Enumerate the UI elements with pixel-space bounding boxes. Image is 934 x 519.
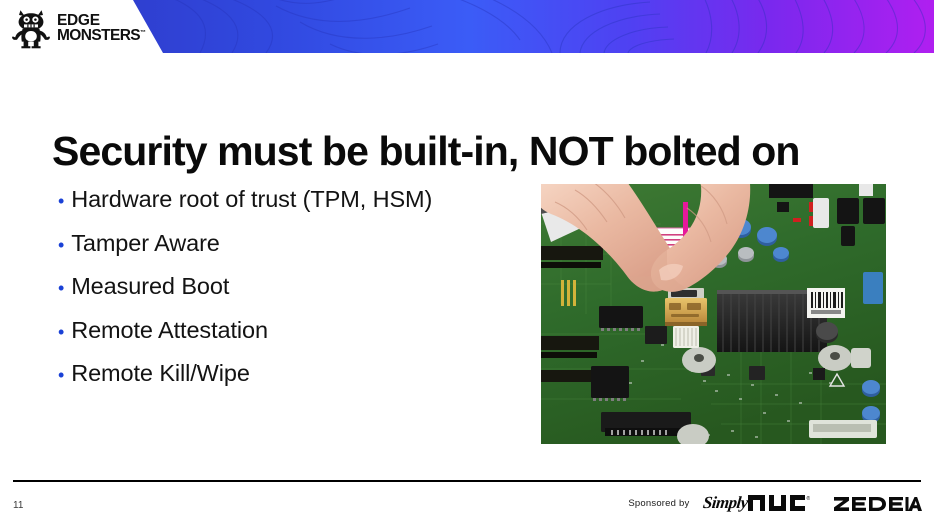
nuc-trademark: ®	[807, 495, 811, 502]
bullet-marker-icon: •	[58, 323, 64, 341]
footer-divider	[13, 480, 921, 482]
logo-line-edge: EDGE	[57, 13, 145, 29]
sponsored-by-label: Sponsored by	[628, 498, 689, 509]
bullet-marker-icon: •	[58, 192, 64, 210]
logo-line-monsters: MONSTERS™	[57, 28, 145, 44]
logo-monsters-text: MONSTERS	[57, 27, 140, 44]
list-item-label: Tamper Aware	[71, 230, 220, 257]
list-item-label: Hardware root of trust (TPM, HSM)	[71, 186, 432, 213]
zededa-logo	[834, 493, 922, 513]
list-item: • Remote Kill/Wipe	[58, 360, 528, 404]
edge-monsters-monster-icon	[8, 6, 54, 50]
nuc-wordmark-icon: ®	[748, 493, 810, 513]
list-item: • Hardware root of trust (TPM, HSM)	[58, 186, 528, 230]
bullet-marker-icon: •	[58, 236, 64, 254]
slide-root: EDGE MONSTERS™ Security must be built-in…	[0, 0, 934, 519]
list-item-label: Remote Attestation	[71, 317, 268, 344]
page-number: 11	[13, 500, 23, 511]
bullet-marker-icon: •	[58, 366, 64, 384]
page-title: Security must be built-in, NOT bolted on	[52, 128, 902, 174]
logo-trademark: ™	[140, 30, 145, 36]
list-item: • Tamper Aware	[58, 230, 528, 274]
bullet-list: • Hardware root of trust (TPM, HSM) • Ta…	[58, 186, 528, 404]
list-item-label: Measured Boot	[71, 273, 229, 300]
motherboard-illustration	[541, 184, 886, 444]
tpm-module-installation-photo	[541, 184, 886, 444]
simply-nuc-script-text: Simply	[702, 493, 749, 513]
brand-logo: EDGE MONSTERS™	[8, 6, 145, 50]
bullet-marker-icon: •	[58, 279, 64, 297]
list-item-label: Remote Kill/Wipe	[71, 360, 250, 387]
logo-wordmark: EDGE MONSTERS™	[57, 13, 145, 44]
sponsor-row: Sponsored by Simply ®	[628, 492, 922, 514]
list-item: • Measured Boot	[58, 273, 528, 317]
list-item: • Remote Attestation	[58, 317, 528, 361]
simply-nuc-logo: Simply ®	[703, 493, 810, 513]
